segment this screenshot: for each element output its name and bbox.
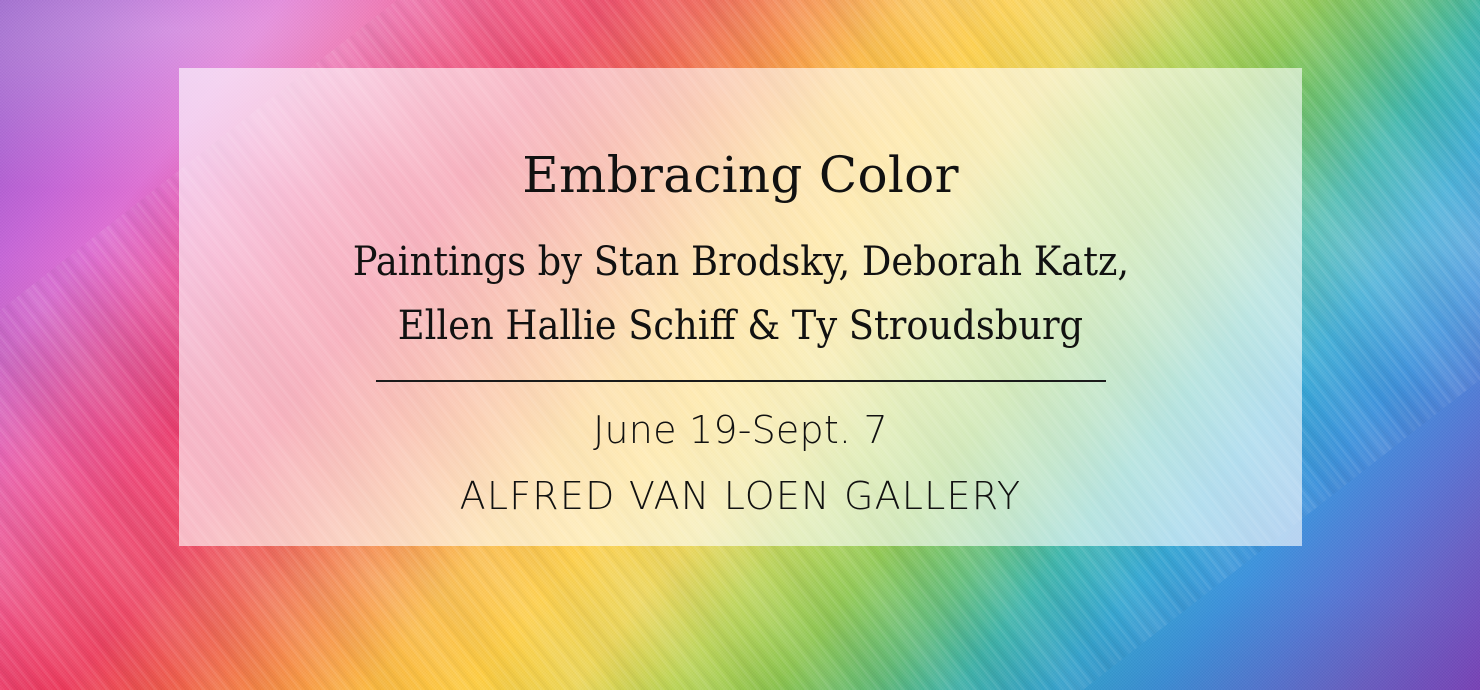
gallery-name: ALFRED VAN LOEN GALLERY bbox=[460, 474, 1022, 518]
exhibition-dates: June 19-Sept. 7 bbox=[593, 408, 888, 452]
exhibition-title: Embracing Color bbox=[522, 150, 959, 200]
exhibition-poster: Embracing Color Paintings by Stan Brodsk… bbox=[0, 0, 1480, 690]
content-panel: Embracing Color Paintings by Stan Brodsk… bbox=[179, 68, 1302, 546]
artists-line-2: Ellen Hallie Schiff & Ty Stroudsburg bbox=[398, 306, 1083, 346]
divider-rule bbox=[376, 380, 1106, 382]
artists-line-1: Paintings by Stan Brodsky, Deborah Katz, bbox=[352, 242, 1128, 282]
